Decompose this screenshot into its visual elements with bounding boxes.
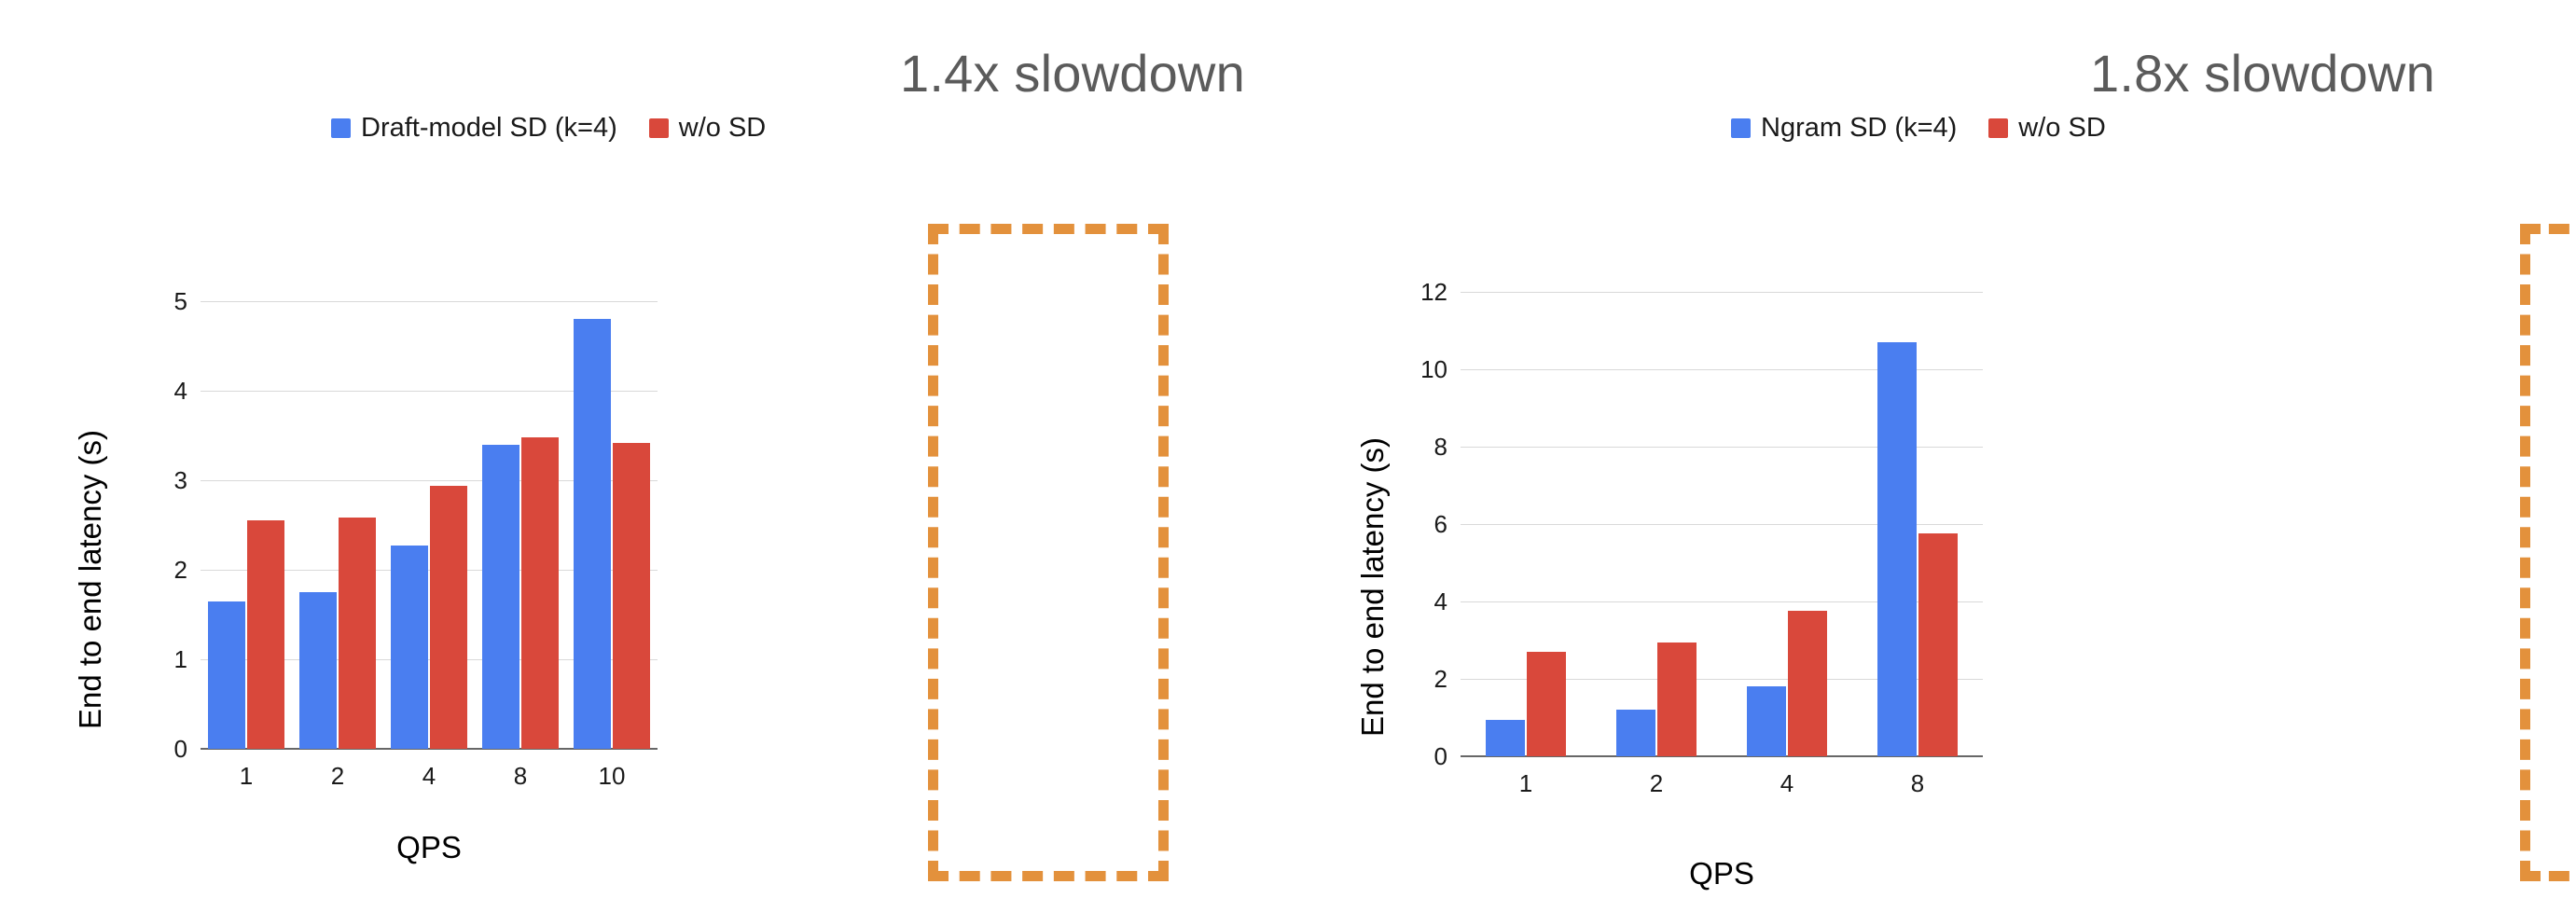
legend-label: Draft-model SD (k=4) — [361, 115, 617, 142]
highlight-box-annotation — [928, 224, 1169, 881]
x-axis-tick-label: 4 — [1780, 771, 1794, 795]
bar-w-o-sd-2 — [339, 518, 376, 749]
y-axis-tick-label: 2 — [1434, 667, 1447, 691]
gridline — [1461, 292, 1983, 293]
legend-label: w/o SD — [679, 115, 766, 142]
bar-w-o-sd-2 — [1657, 643, 1697, 756]
bar-draft-model-sd-k-4-10 — [574, 319, 611, 749]
y-axis-tick-label: 12 — [1420, 280, 1447, 304]
bar-w-o-sd-4 — [430, 486, 467, 749]
y-axis-tick-label: 0 — [1434, 744, 1447, 768]
gridline — [201, 301, 658, 302]
x-axis-tick-label: 10 — [599, 764, 626, 788]
legend-entry-series-0: Ngram SD (k=4) — [1731, 115, 1957, 142]
bar-w-o-sd-4 — [1788, 611, 1827, 756]
y-axis-tick-label: 3 — [174, 468, 187, 492]
x-axis-tick-label: 2 — [331, 764, 344, 788]
legend-label: w/o SD — [2018, 115, 2105, 142]
bar-w-o-sd-1 — [247, 520, 284, 749]
x-axis-tick-label: 2 — [1650, 771, 1663, 795]
bar-ngram-sd-k-4-2 — [1616, 710, 1655, 756]
bar-draft-model-sd-k-4-8 — [482, 445, 519, 749]
bar-w-o-sd-8 — [521, 437, 559, 749]
y-axis-tick-label: 5 — [174, 289, 187, 313]
y-axis-tick-label: 4 — [174, 379, 187, 403]
y-axis-tick-label: 10 — [1420, 357, 1447, 381]
bar-ngram-sd-k-4-4 — [1747, 686, 1786, 756]
y-axis-tick-label: 2 — [174, 558, 187, 582]
bar-w-o-sd-8 — [1918, 533, 1958, 756]
bar-draft-model-sd-k-4-2 — [299, 592, 337, 749]
chart-panel-draft-model-sd: 1.4x slowdown End to end latency (s) Dra… — [0, 0, 1288, 912]
y-axis-title: End to end latency (s) — [73, 430, 108, 729]
bar-draft-model-sd-k-4-4 — [391, 546, 428, 749]
y-axis-title: End to end latency (s) — [1355, 437, 1391, 737]
legend-label: Ngram SD (k=4) — [1761, 115, 1957, 142]
legend-entry-series-1: w/o SD — [649, 115, 766, 142]
highlight-box-annotation — [2520, 224, 2576, 881]
y-axis-tick-label: 1 — [174, 647, 187, 671]
y-axis-tick-label: 6 — [1434, 512, 1447, 536]
x-axis-tick-label: 8 — [514, 764, 527, 788]
x-axis-tick-label: 1 — [240, 764, 253, 788]
bar-ngram-sd-k-4-1 — [1486, 720, 1525, 756]
y-axis-tick-label: 8 — [1434, 435, 1447, 459]
legend-swatch-icon — [649, 118, 669, 138]
chart-legend: Draft-model SD (k=4) w/o SD — [331, 115, 766, 142]
bar-draft-model-sd-k-4-1 — [208, 601, 245, 749]
bar-ngram-sd-k-4-8 — [1877, 342, 1917, 756]
y-axis-tick-label: 4 — [1434, 589, 1447, 614]
x-axis-tick-label: 8 — [1911, 771, 1924, 795]
legend-swatch-icon — [331, 118, 351, 138]
legend-swatch-icon — [1731, 118, 1751, 138]
legend-entry-series-0: Draft-model SD (k=4) — [331, 115, 617, 142]
legend-swatch-icon — [1988, 118, 2008, 138]
legend-entry-series-1: w/o SD — [1988, 115, 2105, 142]
bar-w-o-sd-10 — [613, 443, 650, 749]
slowdown-headline: 1.8x slowdown — [2090, 43, 2435, 104]
slide-canvas: 1.4x slowdown End to end latency (s) Dra… — [0, 0, 2576, 912]
y-axis-tick-label: 0 — [174, 737, 187, 761]
x-axis-tick-label: 1 — [1519, 771, 1532, 795]
chart-panel-ngram-sd: 1.8x slowdown End to end latency (s) Ngr… — [1288, 0, 2576, 912]
plot-area: 0246810121248 — [1461, 292, 1983, 756]
slowdown-headline: 1.4x slowdown — [900, 43, 1245, 104]
x-axis-title: QPS — [396, 830, 462, 865]
x-axis-tick-label: 4 — [422, 764, 436, 788]
x-axis-title: QPS — [1689, 856, 1754, 891]
chart-legend: Ngram SD (k=4) w/o SD — [1731, 115, 2106, 142]
bar-w-o-sd-1 — [1527, 652, 1566, 756]
plot-area: 012345124810 — [201, 301, 658, 749]
